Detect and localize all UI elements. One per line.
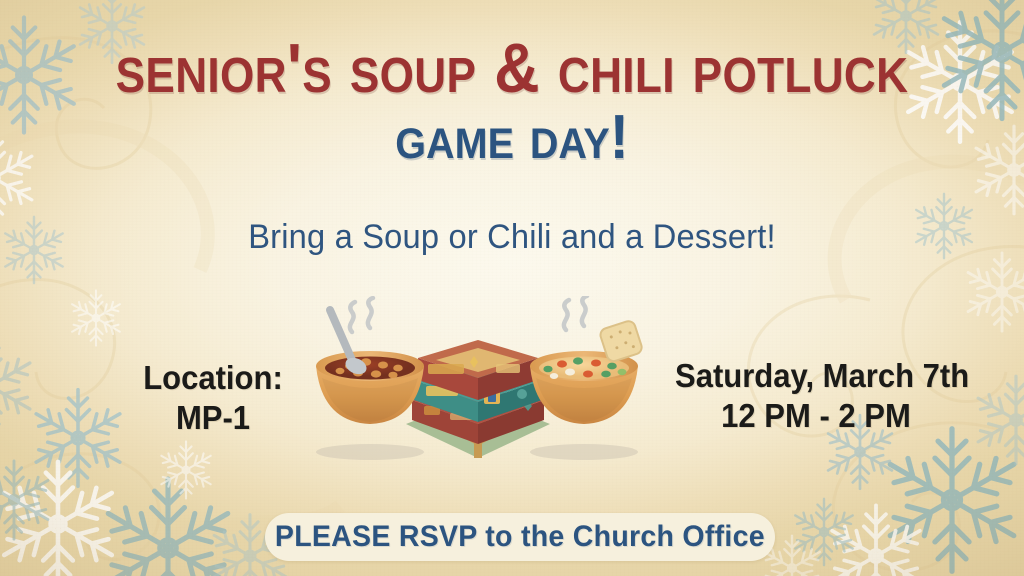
headline-block: Senior's Soup & Chili Potluck Game Day! [0,34,1024,169]
board-game-stack [406,340,550,458]
page-subtitle: Game Day! [41,107,983,169]
location-value: MP-1 [124,398,303,438]
location-block: Location: MP-1 [124,358,303,439]
steam-right [564,296,587,330]
poster-canvas: Senior's Soup & Chili Potluck Game Day! … [0,0,1024,576]
event-date: Saturday, March 7th [675,356,957,396]
bowl-shadow-right [530,444,638,460]
chili-bowl [316,298,424,424]
rsvp-banner[interactable]: PLEASE RSVP to the Church Office [265,513,775,561]
chowder-bowl [530,296,643,424]
location-label: Location: [124,358,303,398]
page-title: Senior's Soup & Chili Potluck [51,34,973,103]
datetime-block: Saturday, March 7th 12 PM - 2 PM [675,356,957,437]
rsvp-text: PLEASE RSVP to the Church Office [275,520,765,554]
soup-bowls-and-board-games-illustration [278,296,678,476]
bowl-shadow-left [316,444,424,460]
tagline: Bring a Soup or Chili and a Dessert! [20,218,1003,257]
steam-left [350,298,373,332]
event-time: 12 PM - 2 PM [675,396,957,436]
